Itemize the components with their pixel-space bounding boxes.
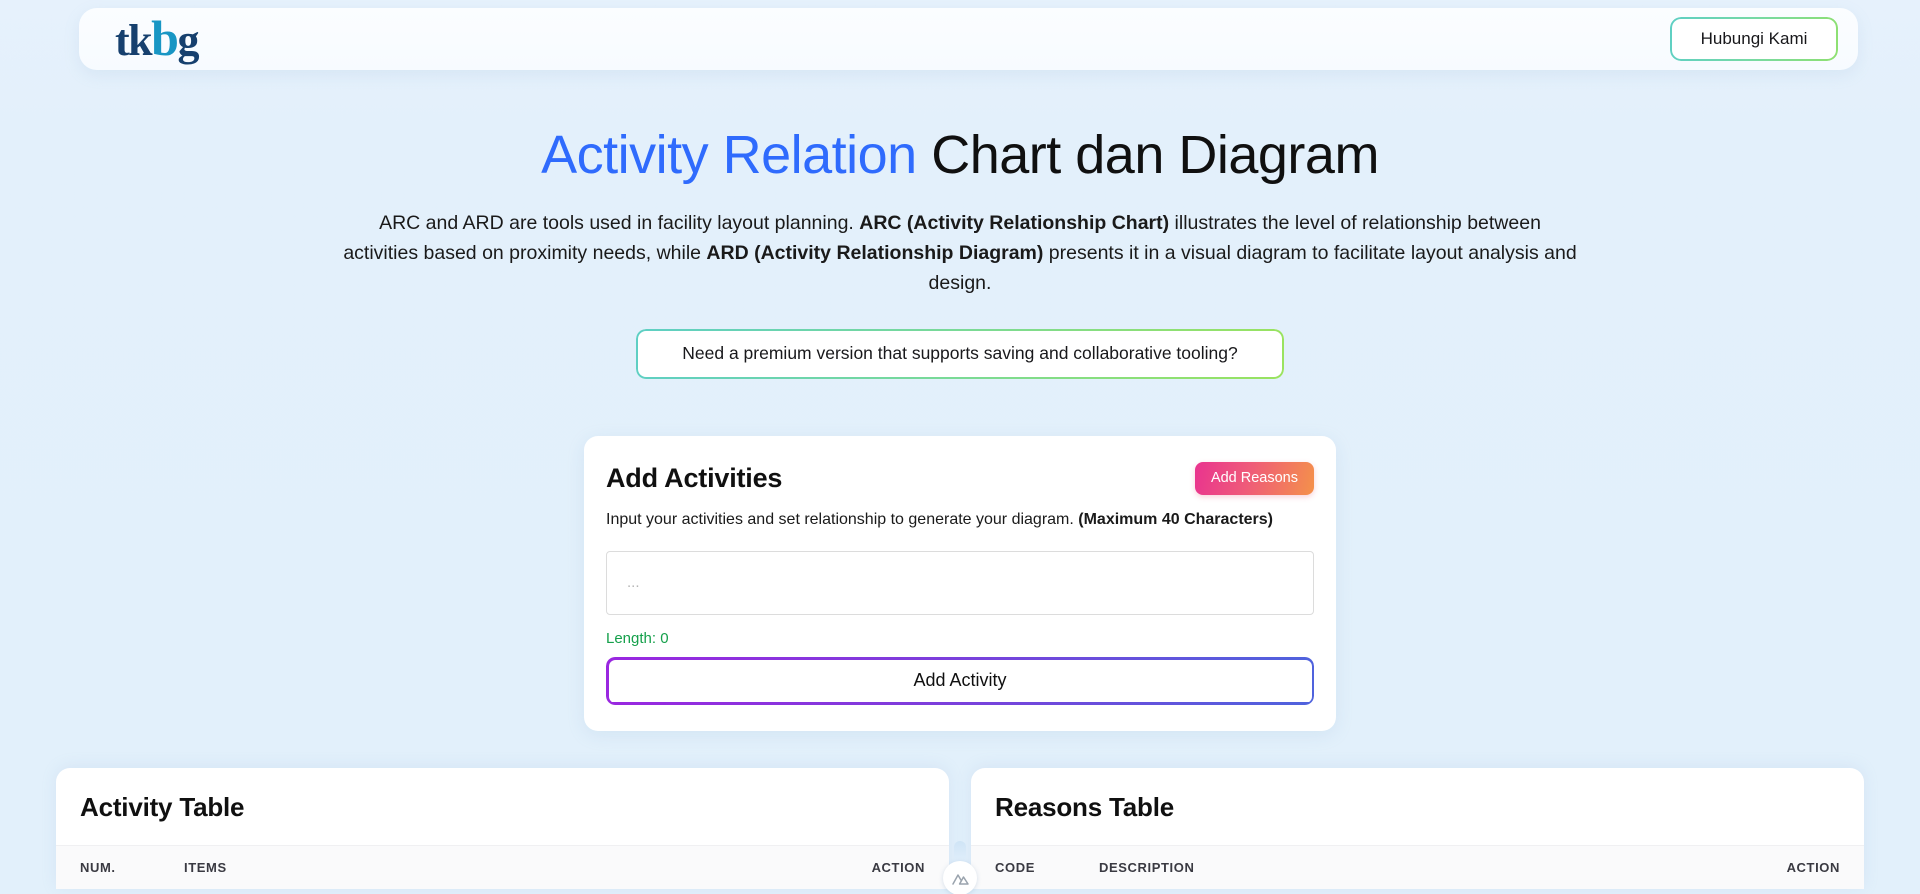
add-activities-header-row: Add Activities Add Reasons	[606, 462, 1314, 495]
add-activities-title: Add Activities	[606, 463, 782, 494]
image-mountain-icon[interactable]	[943, 861, 977, 894]
description-part-1: ARC and ARD are tools used in facility l…	[379, 212, 859, 234]
length-counter: Length: 0	[606, 630, 1314, 647]
subtitle-max-characters: (Maximum 40 Characters)	[1078, 511, 1273, 528]
activity-table-header-row: NUM. ITEMS ACTION	[56, 845, 949, 889]
reasons-column-code: CODE	[995, 860, 1099, 875]
add-activity-button[interactable]: Add Activity	[606, 657, 1314, 705]
add-activities-subtitle: Input your activities and set relationsh…	[606, 511, 1314, 529]
subtitle-text: Input your activities and set relationsh…	[606, 511, 1078, 528]
activity-input[interactable]	[606, 551, 1314, 615]
logo-text-tk: tk	[115, 19, 151, 63]
add-activities-card: Add Activities Add Reasons Input your ac…	[584, 436, 1336, 731]
activity-table-title: Activity Table	[56, 792, 949, 823]
reasons-table-card: Reasons Table CODE DESCRIPTION ACTION	[971, 768, 1864, 889]
page-title: Activity Relation Chart dan Diagram	[0, 126, 1920, 185]
header-region: tkbg Hubungi Kami	[0, 0, 1920, 70]
page-description: ARC and ARD are tools used in facility l…	[340, 209, 1580, 298]
contact-us-button[interactable]: Hubungi Kami	[1670, 17, 1838, 61]
tables-row: Activity Table NUM. ITEMS ACTION Reasons…	[0, 768, 1920, 889]
description-bold-arc: ARC (Activity Relationship Chart)	[859, 212, 1169, 234]
header-bar: tkbg Hubungi Kami	[79, 8, 1858, 70]
activity-table-card: Activity Table NUM. ITEMS ACTION	[56, 768, 949, 889]
activity-column-items: ITEMS	[184, 860, 851, 875]
logo-text-b: b	[151, 13, 177, 63]
brand-logo[interactable]: tkbg	[115, 13, 198, 66]
add-reasons-button[interactable]: Add Reasons	[1195, 462, 1314, 495]
hero-section: Activity Relation Chart dan Diagram ARC …	[0, 70, 1920, 379]
reasons-column-action: ACTION	[1766, 860, 1840, 875]
description-bold-ard: ARD (Activity Relationship Diagram)	[706, 242, 1043, 264]
reasons-table-header-row: CODE DESCRIPTION ACTION	[971, 845, 1864, 889]
activity-column-action: ACTION	[851, 860, 925, 875]
premium-version-banner[interactable]: Need a premium version that supports sav…	[636, 329, 1284, 379]
page-title-rest: Chart dan Diagram	[917, 125, 1379, 185]
page-title-accent: Activity Relation	[541, 125, 917, 185]
reasons-column-description: DESCRIPTION	[1099, 860, 1766, 875]
logo-text-g: g	[177, 19, 198, 63]
activity-column-num: NUM.	[80, 860, 184, 875]
reasons-table-title: Reasons Table	[971, 792, 1864, 823]
